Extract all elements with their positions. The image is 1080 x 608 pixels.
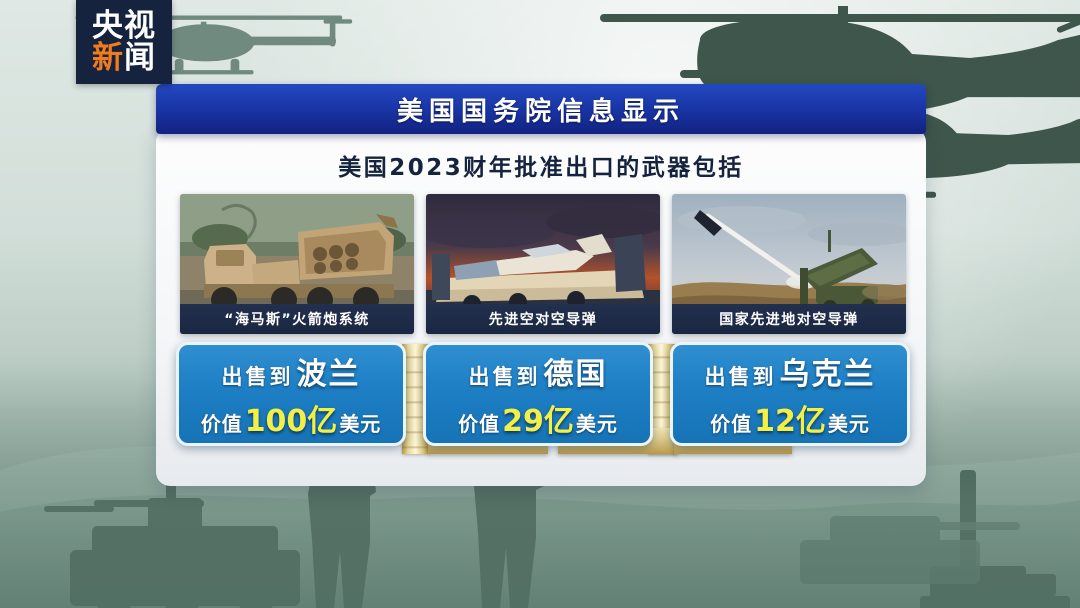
card-sold-to-label: 出售到 xyxy=(705,361,777,391)
subtitle-text: 美国2023财年批准出口的武器包括 xyxy=(338,148,744,182)
export-card-ukraine[interactable]: 出售到 乌克兰 价值 12亿 美元 xyxy=(670,342,910,446)
card-value-label: 价值 xyxy=(710,408,752,437)
card-value-line: 价值 29亿 美元 xyxy=(458,396,618,440)
card-sold-to-label: 出售到 xyxy=(222,361,294,391)
card-value-line: 价值 12亿 美元 xyxy=(710,396,870,440)
logo-top-line: 央 视 xyxy=(92,11,156,42)
card-value-amount: 12亿 xyxy=(754,396,826,440)
card-country-line: 出售到 乌克兰 xyxy=(705,349,876,393)
photo-caption-bar: “海马斯”火箭炮系统 xyxy=(180,304,414,334)
card-value-currency: 美元 xyxy=(339,408,381,437)
logo-char-shi: 视 xyxy=(124,11,156,42)
headline-text: 美国国务院信息显示 xyxy=(397,91,685,128)
card-value-label: 价值 xyxy=(458,408,500,437)
card-country-name: 乌克兰 xyxy=(780,349,876,393)
card-sold-to-label: 出售到 xyxy=(469,361,541,391)
export-card-germany[interactable]: 出售到 德国 价值 29亿 美元 xyxy=(423,342,653,446)
logo-bottom-line: 新 闻 xyxy=(92,43,156,74)
photo-caption-text: “海马斯”火箭炮系统 xyxy=(224,309,369,329)
card-value-amount: 100亿 xyxy=(245,396,338,440)
photo-caption-text: 国家先进地对空导弹 xyxy=(719,309,859,329)
weapon-photo-row: “海马斯”火箭炮系统 xyxy=(180,194,906,334)
card-value-label: 价值 xyxy=(201,408,243,437)
photo-caption-text: 先进空对空导弹 xyxy=(489,309,598,329)
export-value-card-row: 出售到 波兰 价值 100亿 美元 出售到 德国 价值 29亿 美元 出售到 xyxy=(176,342,910,446)
weapon-photo-air-to-air-missile: 先进空对空导弹 xyxy=(426,194,660,334)
logo-char-xin: 新 xyxy=(92,43,124,74)
card-value-amount: 29亿 xyxy=(502,396,574,440)
logo-char-yang: 央 xyxy=(92,11,124,42)
cctv-news-logo: 央 视 新 闻 xyxy=(76,0,172,84)
export-card-poland[interactable]: 出售到 波兰 价值 100亿 美元 xyxy=(176,342,406,446)
card-country-line: 出售到 德国 xyxy=(469,349,608,393)
subtitle-row: 美国2023财年批准出口的武器包括 xyxy=(156,146,926,184)
logo-char-wen: 闻 xyxy=(124,43,156,74)
weapon-photo-himars: “海马斯”火箭炮系统 xyxy=(180,194,414,334)
card-country-name: 德国 xyxy=(544,349,608,393)
card-value-currency: 美元 xyxy=(576,408,618,437)
headline-bar: 美国国务院信息显示 xyxy=(156,84,926,134)
photo-caption-bar: 先进空对空导弹 xyxy=(426,304,660,334)
photo-caption-bar: 国家先进地对空导弹 xyxy=(672,304,906,334)
card-value-currency: 美元 xyxy=(828,408,870,437)
broadcast-graphic: 央 视 新 闻 美国国务院信息显示 美国2023财年批准出口的武器包括 xyxy=(0,0,1080,608)
card-country-name: 波兰 xyxy=(297,349,361,393)
card-country-line: 出售到 波兰 xyxy=(222,349,361,393)
card-value-line: 价值 100亿 美元 xyxy=(201,396,382,440)
weapon-photo-nasams: 国家先进地对空导弹 xyxy=(672,194,906,334)
